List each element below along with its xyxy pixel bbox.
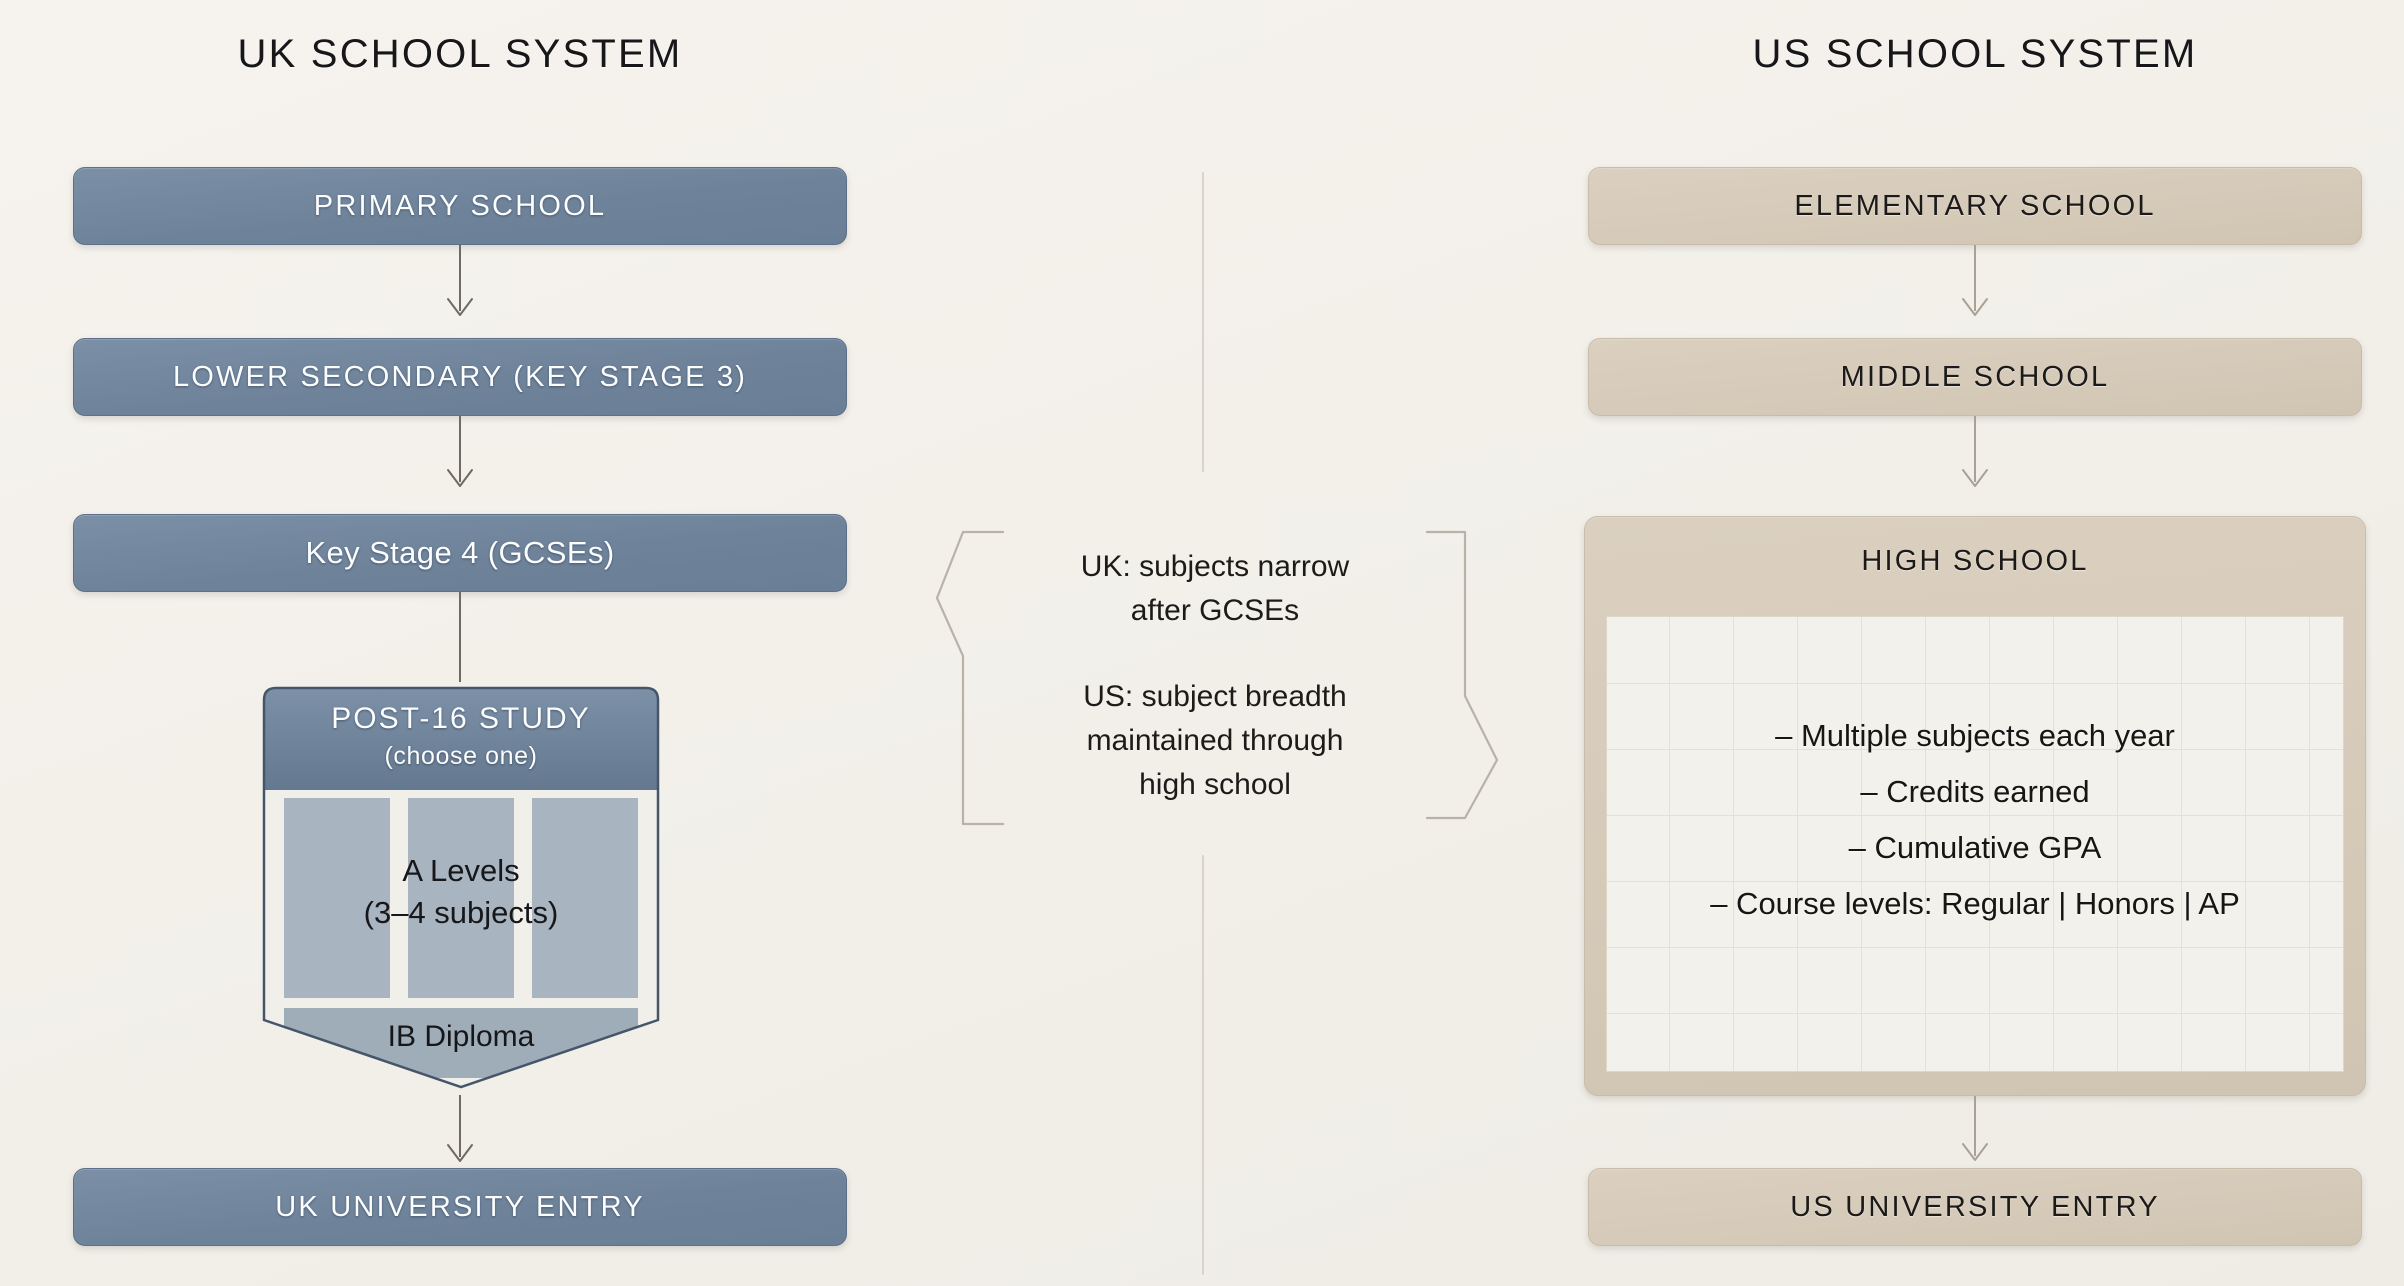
shield-title: POST-16 STUDY [256,702,666,736]
center-bracket-right [1425,528,1505,828]
us-arrow-high-to-university [1955,1096,1995,1176]
center-divider-top [1202,172,1204,472]
us-step-elementary-school[interactable]: ELEMENTARY SCHOOL [1588,167,2362,245]
uk-exit-label: UK UNIVERSITY ENTRY [275,1191,644,1224]
us-high-school-grid-panel: – Multiple subjects each year – Credits … [1606,616,2344,1072]
us-arrow-middle-to-high [1955,416,1995,494]
uk-column-title: UK SCHOOL SYSTEM [73,32,847,77]
us-step-label: MIDDLE SCHOOL [1841,361,2110,394]
uk-step-label: Key Stage 4 (GCSEs) [305,535,614,571]
uk-step-primary-school[interactable]: PRIMARY SCHOOL [73,167,847,245]
uk-step-key-stage-4[interactable]: Key Stage 4 (GCSEs) [73,514,847,592]
us-exit-label: US UNIVERSITY ENTRY [1790,1191,2159,1224]
shield-option-ib-diploma[interactable]: IB Diploma [256,1020,666,1054]
shield-option-a-levels[interactable]: A Levels (3–4 subjects) [256,850,666,934]
center-divider-bottom [1202,855,1204,1275]
list-item: – Multiple subjects each year [1607,709,2343,763]
us-arrow-elementary-to-middle [1955,245,1995,323]
uk-arrow-post16-to-university [440,1095,480,1175]
list-item: – Course levels: Regular | Honors | AP [1607,877,2343,931]
us-university-entry[interactable]: US UNIVERSITY ENTRY [1588,1168,2362,1246]
list-item: – Cumulative GPA [1607,821,2343,875]
uk-university-entry[interactable]: UK UNIVERSITY ENTRY [73,1168,847,1246]
list-item: – Credits earned [1607,765,2343,819]
uk-line-ks4-to-post16 [440,592,480,682]
shield-subtitle: (choose one) [256,742,666,771]
us-step-middle-school[interactable]: MIDDLE SCHOOL [1588,338,2362,416]
diagram-canvas: UK SCHOOL SYSTEM US SCHOOL SYSTEM PRIMAR… [0,0,2404,1286]
uk-step-label: LOWER SECONDARY (KEY STAGE 3) [173,361,747,394]
uk-step-label: PRIMARY SCHOOL [314,190,606,223]
uk-arrow-primary-to-lower [440,245,480,323]
uk-step-lower-secondary[interactable]: LOWER SECONDARY (KEY STAGE 3) [73,338,847,416]
center-note-us: US: subject breadth maintained through h… [1000,675,1430,807]
us-high-school-label: HIGH SCHOOL [1861,545,2088,578]
center-bracket-left [935,528,1005,828]
uk-post16-shield[interactable]: POST-16 STUDY (choose one) A Levels (3–4… [256,680,666,1095]
uk-arrow-lower-to-ks4 [440,416,480,494]
us-high-school-feature-list: – Multiple subjects each year – Credits … [1607,617,2343,1071]
us-column-title: US SCHOOL SYSTEM [1588,32,2362,77]
us-step-label: ELEMENTARY SCHOOL [1794,190,2155,223]
center-note-uk: UK: subjects narrow after GCSEs [1010,545,1420,633]
